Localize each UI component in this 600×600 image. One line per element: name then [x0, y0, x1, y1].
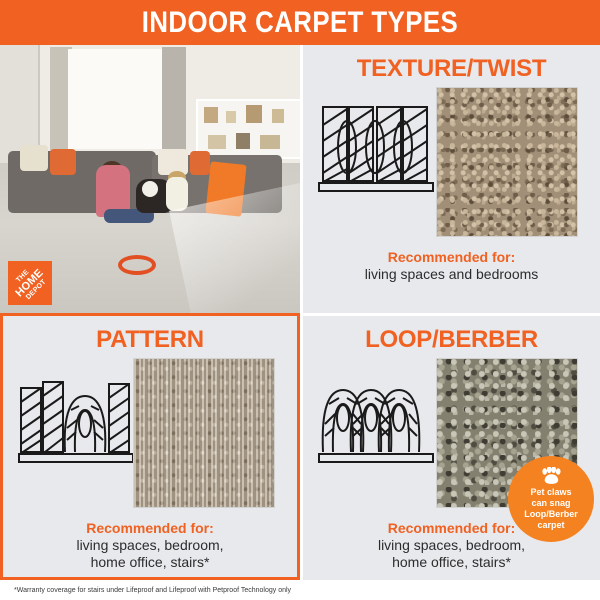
- cell-title-pattern: PATTERN: [3, 326, 297, 354]
- pet-badge-line2: can snag: [531, 498, 570, 509]
- pet-badge-line1: Pet claws: [530, 487, 571, 498]
- paw-icon: [539, 467, 563, 485]
- pattern-cut-loop-diagram-icon: [17, 366, 135, 474]
- rec-heading: Recommended for:: [303, 249, 600, 266]
- rec-text: living spaces and bedrooms: [303, 266, 600, 283]
- header-banner: INDOOR CARPET TYPES: [0, 0, 600, 45]
- pet-badge-line3: Loop/Berber: [524, 509, 578, 520]
- photo-child: [166, 177, 188, 211]
- hero-photo-cell: THE HOME DEPOT: [0, 45, 300, 313]
- carpet-types-infographic: INDOOR CARPET TYPES: [0, 0, 600, 600]
- footnote-text: *Warranty coverage for stairs under Life…: [0, 587, 291, 594]
- recommendation-pattern: Recommended for: living spaces, bedroom,…: [3, 520, 297, 571]
- swatch-pattern: [133, 358, 275, 508]
- rec-text-line2: home office, stairs*: [303, 554, 600, 571]
- cell-title-texture-twist: TEXTURE/TWIST: [303, 55, 600, 83]
- pet-claws-badge: Pet claws can snag Loop/Berber carpet: [508, 456, 594, 542]
- cell-texture-twist: TEXTURE/TWIST: [300, 45, 600, 313]
- cell-loop-berber: LOOP/BERBER: [300, 313, 600, 580]
- photo-dog-toy: [118, 255, 156, 275]
- cell-body-texture-twist: [303, 87, 600, 237]
- photo-cushion-orange: [50, 149, 76, 175]
- swatch-texture-twist: [436, 87, 578, 237]
- home-depot-logo: THE HOME DEPOT: [8, 261, 52, 305]
- photo-shelf: [196, 99, 300, 159]
- rec-heading: Recommended for:: [3, 520, 297, 537]
- footnote-bar: *Warranty coverage for stairs under Life…: [0, 580, 600, 600]
- photo-cushion-orange-2: [190, 151, 210, 175]
- page-title: INDOOR CARPET TYPES: [142, 6, 458, 40]
- photo-dog-face: [142, 181, 158, 197]
- rec-text-line1: living spaces, bedroom,: [3, 537, 297, 554]
- photo-curtain-right: [162, 47, 186, 159]
- pet-badge-line4: carpet: [537, 520, 564, 531]
- photo-window: [68, 49, 164, 149]
- cell-body-loop-berber: Pet claws can snag Loop/Berber carpet: [303, 358, 600, 508]
- living-room-photo: THE HOME DEPOT: [0, 45, 300, 313]
- quadrant-grid: THE HOME DEPOT TEXTURE/TWIST: [0, 45, 600, 580]
- twisted-yarn-diagram-icon: [317, 95, 435, 203]
- recommendation-texture-twist: Recommended for: living spaces and bedro…: [303, 249, 600, 283]
- cell-body-pattern: [3, 358, 297, 508]
- loop-diagram-icon: [317, 366, 435, 474]
- rec-text-line2: home office, stairs*: [3, 554, 297, 571]
- cell-pattern: PATTERN: [0, 313, 300, 580]
- photo-cushion-cream: [20, 145, 48, 171]
- cell-title-loop-berber: LOOP/BERBER: [303, 326, 600, 354]
